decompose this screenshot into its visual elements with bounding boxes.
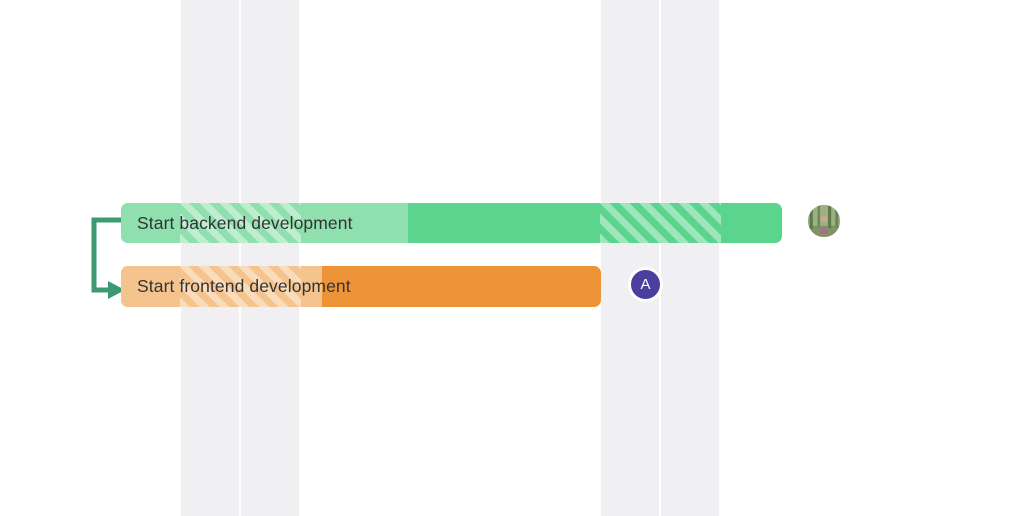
bar-hatch-segment-2 — [600, 203, 721, 243]
task-label: Start frontend development — [121, 276, 351, 297]
avatar-frontend[interactable]: A — [628, 267, 663, 302]
task-label: Start backend development — [121, 213, 353, 234]
avatar-initials-text: A — [640, 276, 650, 293]
avatar-backend[interactable] — [806, 203, 842, 239]
task-bar-backend[interactable]: Start backend development — [121, 203, 782, 243]
task-bars-layer: Start backend developmentStart frontend … — [0, 0, 1019, 516]
task-bar-frontend[interactable]: Start frontend development — [121, 266, 601, 307]
avatar-photo-image — [808, 205, 840, 237]
gantt-chart: Start backend developmentStart frontend … — [0, 0, 1019, 516]
